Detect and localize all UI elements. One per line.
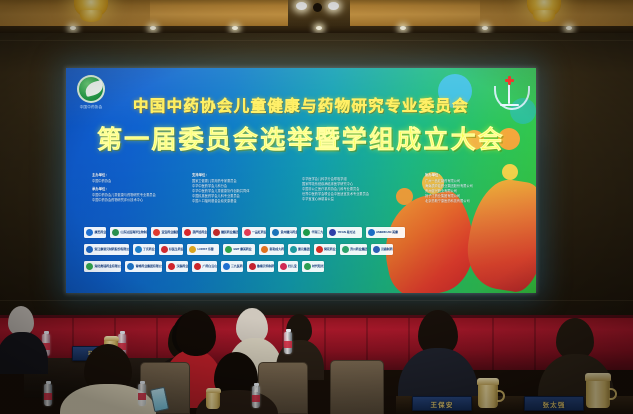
tea-cup-2 [206, 392, 220, 409]
sponsor-logo: 好医生药业 [159, 244, 184, 255]
sponsor-name: 浙江康恩贝制药股份有限公司 [95, 247, 129, 251]
sponsor-name: 亚宝药业集团 [162, 230, 179, 234]
sponsor-name: 景元集团 [298, 247, 310, 251]
sponsor-mark-icon [304, 263, 311, 270]
organizer-column-3: 中华医学会儿科学分会呼吸学组 国家呼吸系统疾病临床医学研究中心 中国非公立医疗机… [302, 173, 420, 221]
sponsor-mark-icon [249, 263, 256, 270]
downlight-5 [400, 26, 406, 30]
sponsor-logo: 济川药业集团 [340, 244, 367, 255]
sponsor-logo: LODST 乐普 [187, 244, 219, 255]
tea-cup-lid-2 [206, 388, 221, 393]
sponsor-mark-icon [316, 246, 323, 253]
sponsor-mark-icon [368, 229, 375, 236]
sponsor-row: 康芝药业山东达因海洋生物制药亚宝药业集团葫芦娃药业健民药业集团一品红药业贵州健兴… [84, 226, 470, 238]
conference-hall-photo: 中国中药协会 中国中药协会儿童健康与药物研究专业委员会 第一届委员会选举暨学组成… [0, 0, 633, 414]
audience-shoulder [0, 332, 48, 374]
water-bottle-4 [138, 384, 146, 406]
sponsor-name: 三九医药 [231, 264, 243, 268]
sponsor-mark-icon [184, 229, 191, 236]
organizer-column-4: 协办单位： 广州一品红制药有限公司 海南葫芦娃药业集团股份有限公司 贵州健兴药业… [425, 173, 525, 221]
bottle-cap-3 [46, 381, 51, 384]
organizer-heading: 承办单位： [92, 187, 187, 192]
organizer-block: 主办单位： 中国中药协会 [92, 173, 187, 184]
sponsor-logo: 广药白云山 [192, 261, 217, 272]
water-bottle-3 [44, 384, 52, 406]
sponsor-logo: 一品红药业 [242, 227, 267, 238]
projector-lens [313, 3, 322, 12]
chandelier-left [74, 0, 108, 24]
organizer-line: 北京药斯宁康医药科技有限公司 [425, 199, 525, 204]
sponsor-mark-icon [127, 263, 134, 270]
sponsor-mark-icon [86, 246, 93, 253]
sponsor-mark-icon [303, 229, 310, 236]
sponsor-logo: 健民药业集团 [211, 227, 238, 238]
sponsor-name: 健民药业集团 [221, 230, 238, 234]
led-stage-banner: 中国中药协会 中国中药协会儿童健康与药物研究专业委员会 第一届委员会选举暨学组成… [66, 68, 536, 293]
downlight-6 [482, 26, 488, 30]
downlight-2 [150, 26, 156, 30]
sponsor-logo: 浙江康恩贝制药股份有限公司 [84, 244, 129, 255]
sponsor-logo: 贵州健兴药业 [270, 227, 297, 238]
projector-lamp-right [328, 2, 339, 10]
sponsor-mark-icon [342, 246, 349, 253]
sponsor-logo: AMERICAN 美康 [366, 227, 406, 238]
nameplate-zhang-taiqiang[interactable]: 张太强 [524, 396, 584, 411]
sponsor-logo: 汉森药业 [166, 261, 188, 272]
banner-title-line1: 中国中药协会儿童健康与药物研究专业委员会 [66, 94, 536, 116]
sponsor-mark-icon [290, 246, 297, 253]
organizer-line: 中国中药协会 [92, 179, 187, 184]
organizer-heading: 协办单位： [425, 173, 525, 178]
organizer-heading: 支持单位： [192, 173, 297, 178]
downlight-4 [316, 26, 322, 30]
sponsor-logo: 葫芦娃药业 [182, 227, 207, 238]
sponsor-name: 葫芦娃药业 [193, 230, 207, 234]
medical-cross-icon [505, 76, 514, 85]
sponsor-name: 妇儿宝 [288, 264, 297, 268]
sponsor-logo: 新和成大药 [259, 244, 284, 255]
organizer-block: 支持单位： 国家卫健委儿童用药专家委员会 中华中医药学会儿科分会 中华中医药学会… [192, 173, 297, 204]
chair-back-3 [330, 360, 384, 414]
sponsor-name: 好医生药业 [169, 247, 183, 251]
sponsor-name: 时代阳光 [312, 264, 324, 268]
sponsor-logo: 葵花药业 [314, 244, 336, 255]
sponsor-name: BBT 康美药业 [234, 247, 252, 251]
bottle-cap-2 [120, 331, 125, 334]
sponsor-logo: 亚宝药业集团 [151, 227, 178, 238]
wall-seam-top [0, 40, 633, 41]
organizer-heading: 主办单位： [92, 173, 187, 178]
organizer-block: 协办单位： 广州一品红制药有限公司 海南葫芦娃药业集团股份有限公司 贵州健兴药业… [425, 173, 525, 204]
water-bottle-5 [252, 386, 260, 408]
sponsor-name: 济川药业集团 [350, 247, 367, 251]
sponsor-name: 康芝药业 [95, 230, 107, 234]
chandelier-right [527, 0, 561, 24]
sponsor-name: LODST 乐普 [198, 247, 214, 251]
sponsor-mark-icon [373, 246, 380, 253]
sponsor-row: 浙江康恩贝制药股份有限公司丁氏药业好医生药业LODST 乐普BBT 康美药业新和… [84, 243, 470, 255]
sponsor-logo: 妇儿宝 [278, 261, 298, 272]
sponsor-mark-icon [112, 229, 119, 236]
bottle-cap-6 [286, 329, 291, 332]
organizer-line: 中国中药协会药物研究评价技术中心 [92, 198, 187, 203]
sponsor-logo: 鲁南贝特制药 [247, 261, 274, 272]
sponsor-logo: BBT 康美药业 [223, 244, 255, 255]
sponsor-logo: 山东达因海洋生物制药 [110, 227, 147, 238]
sponsor-mark-icon [189, 246, 196, 253]
sponsor-logo: 华润三九 [301, 227, 323, 238]
sponsor-name: 葵花药业 [324, 247, 336, 251]
sponsor-name: 广药白云山 [203, 264, 217, 268]
sponsor-mark-icon [86, 229, 93, 236]
sponsor-name: 山东达因海洋生物制药 [121, 230, 148, 234]
organizer-column-2: 支持单位： 国家卫健委儿童用药专家委员会 中华中医药学会儿科分会 中华中医药学会… [192, 173, 297, 221]
banner-title-line2: 第一届委员会选举暨学组成立大会 [66, 120, 536, 156]
sponsor-name: 丁氏药业 [143, 247, 155, 251]
sponsor-logo: 湖北奥瑞药业有限公司 [84, 261, 121, 272]
sponsor-logo: YIFAN 易方达 [327, 227, 362, 238]
organizer-block: 承办单位： 中国中药协会儿童健康与药物研究专业委员会 中国中药协会药物研究评价技… [92, 187, 187, 203]
organizer-text-columns: 主办单位： 中国中药协会 承办单位： 中国中药协会儿童健康与药物研究专业委员会 … [92, 173, 516, 221]
sponsor-name: 青峰药业集团有限公司 [136, 264, 163, 268]
projector-lamp-left [296, 2, 307, 10]
sponsor-name: 新和成大药 [270, 247, 284, 251]
tea-cup-lid-3 [477, 378, 499, 385]
audience-head-dark-hair [176, 310, 216, 356]
sponsor-mark-icon [272, 229, 279, 236]
sponsor-logo: 康芝药业 [84, 227, 106, 238]
tea-cup-lid-4 [585, 373, 611, 381]
water-bottle-6 [284, 332, 292, 354]
sponsor-name: AMERICAN 美康 [376, 230, 398, 234]
sponsor-mark-icon [168, 263, 175, 270]
sponsor-mark-icon [161, 246, 168, 253]
sponsor-name: 华润三九 [312, 230, 324, 234]
sponsor-name: 鲁南贝特制药 [257, 264, 274, 268]
organizer-block: 中华医学会儿科学分会呼吸学组 国家呼吸系统疾病临床医学研究中心 中国非公立医疗机… [302, 173, 420, 202]
downlight-7 [566, 26, 572, 30]
sponsor-logo: 汉森制药 [371, 244, 393, 255]
sponsor-mark-icon [194, 263, 201, 270]
audience-area: 马 融 [0, 300, 633, 414]
sponsor-mark-icon [86, 263, 93, 270]
bottle-cap-4 [140, 381, 145, 384]
sponsor-mark-icon [213, 229, 220, 236]
sponsor-logo: 丁氏药业 [133, 244, 155, 255]
sponsor-name: 贵州健兴药业 [281, 230, 298, 234]
sponsor-logo: 景元集团 [288, 244, 310, 255]
sponsor-logo: 青峰药业集团有限公司 [125, 261, 162, 272]
tea-cup-4 [586, 380, 610, 408]
sponsor-mark-icon [329, 229, 336, 236]
sponsor-name: 湖北奥瑞药业有限公司 [95, 264, 122, 268]
sponsor-mark-icon [244, 229, 251, 236]
organizer-line: 中国人口福利基金会幼安康基金 [192, 199, 297, 204]
sponsor-row: 湖北奥瑞药业有限公司青峰药业集团有限公司汉森药业广药白云山三九医药鲁南贝特制药妇… [84, 260, 470, 272]
sponsor-mark-icon [280, 263, 287, 270]
sponsor-mark-icon [223, 263, 230, 270]
downlight-3 [232, 26, 238, 30]
bottle-cap-1 [44, 331, 49, 334]
tea-cup-lid-1 [104, 336, 119, 341]
bottle-cap-5 [254, 383, 259, 386]
sponsor-logo-grid: 康芝药业山东达因海洋生物制药亚宝药业集团葫芦娃药业健民药业集团一品红药业贵州健兴… [84, 226, 470, 277]
sponsor-logo: 时代阳光 [302, 261, 324, 272]
sponsor-mark-icon [261, 246, 268, 253]
sponsor-name: YIFAN 易方达 [338, 230, 356, 234]
organizer-line: 中华宝宝心扉慈善公益 [302, 197, 420, 202]
nameplate-wang-baoan[interactable]: 王保安 [412, 396, 472, 411]
projector-housing [288, 0, 350, 29]
sponsor-mark-icon [135, 246, 142, 253]
sponsor-logo: 三九医药 [221, 261, 243, 272]
sponsor-name: 汉森药业 [177, 264, 189, 268]
sponsor-name: 汉森制药 [381, 247, 393, 251]
sponsor-name: 一品红药业 [252, 230, 266, 234]
downlight-1 [70, 26, 76, 30]
sponsor-mark-icon [153, 229, 160, 236]
tea-cup-3 [478, 384, 498, 408]
sponsor-mark-icon [225, 246, 232, 253]
organizer-column-1: 主办单位： 中国中药协会 承办单位： 中国中药协会儿童健康与药物研究专业委员会 … [92, 173, 187, 221]
